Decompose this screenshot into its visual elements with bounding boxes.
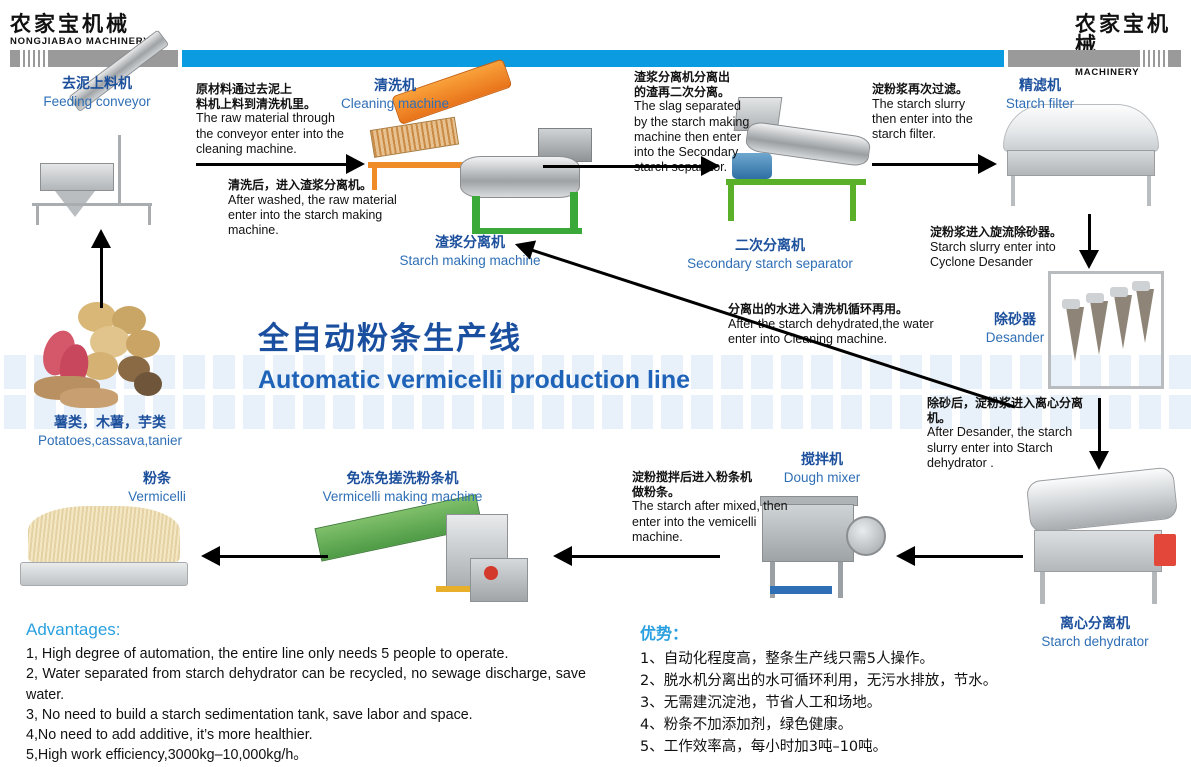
label-secondary-separator: 二次分离机 Secondary starch separator <box>660 238 880 271</box>
label-raw-material: 薯类，木薯，芋类 Potatoes,cassava,tanier <box>10 415 210 448</box>
brand-name-cn: 农家宝机械 <box>10 14 150 35</box>
label-desander-en: Desander <box>960 330 1070 346</box>
note-starch-to-secondary-cn1: 渣浆分离机分离出 <box>634 70 754 85</box>
label-cleaning-machine: 清洗机 Cleaning machine <box>330 78 460 111</box>
note-mixer-to-vermicelli-en: The starch after mixed, then enter into … <box>632 499 792 545</box>
advantages-en-heading: Advantages: <box>26 620 586 640</box>
note-desander-to-dehydrator-cn: 除砂后，淀粉浆进入离心分离机。 <box>927 396 1105 425</box>
page-title: 全自动粉条生产线 Automatic vermicelli production… <box>258 320 690 396</box>
note-water-recycle-en: After the starch dehydrated,the water en… <box>728 317 953 348</box>
note-starch-to-secondary: 渣浆分离机分离出 的渣再二次分离。 The slag separated by … <box>634 70 754 176</box>
note-conveyor-to-cleaning-en: The raw material through the conveyor en… <box>196 111 346 157</box>
arrow-starch-to-secondary <box>543 165 703 168</box>
note-conveyor-to-cleaning-cn2: 料机上料到清洗机里。 <box>196 97 346 112</box>
raw-material-image <box>30 300 190 415</box>
page-title-en: Automatic vermicelli production line <box>258 365 690 396</box>
label-secondary-separator-cn: 二次分离机 <box>660 238 880 255</box>
label-starch-filter-cn: 精滤机 <box>975 78 1105 95</box>
arrow-mixer-to-vermicelli-machine <box>570 555 720 558</box>
advantages-en-item-2: 2, Water separated from starch dehydrato… <box>26 664 586 705</box>
advantages-cn-item-3: 3、无需建沉淀池，节省人工和场地。 <box>640 692 1060 714</box>
label-desander-cn: 除砂器 <box>960 312 1070 329</box>
note-secondary-to-filter-cn: 淀粉浆再次过滤。 <box>872 82 992 97</box>
arrow-dehydrator-to-mixer <box>913 555 1023 558</box>
header-stripes-right <box>1140 50 1168 67</box>
arrow-raw-to-conveyor <box>100 246 103 308</box>
note-desander-to-dehydrator-en: After Desander, the starch slurry enter … <box>927 425 1105 471</box>
label-vermicelli-making-machine-cn: 免冻免搓洗粉条机 <box>280 471 525 488</box>
note-cleaning-to-starch: 清洗后，进入渣浆分离机。 After washed, the raw mater… <box>228 178 418 238</box>
arrow-desander-to-dehydrator <box>1098 398 1101 453</box>
advantages-english: Advantages: 1, High degree of automation… <box>26 620 586 766</box>
arrow-filter-to-desander <box>1088 214 1091 252</box>
note-cleaning-to-starch-en: After washed, the raw material enter int… <box>228 193 418 239</box>
note-mixer-to-vermicelli-cn1: 淀粉搅拌后进入粉条机 <box>632 470 792 485</box>
note-conveyor-to-cleaning-cn1: 原材料通过去泥上 <box>196 82 346 97</box>
starch-making-machine-image <box>450 120 610 235</box>
label-vermicelli-cn: 粉条 <box>102 471 212 488</box>
note-starch-to-secondary-cn2: 的渣再二次分离。 <box>634 85 754 100</box>
advantages-cn-item-5: 5、工作效率高，每小时加3吨–10吨。 <box>640 736 1060 758</box>
label-starch-filter: 精滤机 Starch filter <box>975 78 1105 111</box>
arrow-machine-to-product <box>218 555 328 558</box>
advantages-cn-item-2: 2、脱水机分离出的水可循环利用，无污水排放，节水。 <box>640 670 1060 692</box>
advantages-en-item-5: 5,High work efficiency,3000kg–10,000kg/h… <box>26 745 586 765</box>
note-mixer-to-vermicelli-cn2: 做粉条。 <box>632 485 792 500</box>
label-cleaning-machine-cn: 清洗机 <box>330 78 460 95</box>
note-cleaning-to-starch-cn: 清洗后，进入渣浆分离机。 <box>228 178 418 193</box>
label-vermicelli-en: Vermicelli <box>102 489 212 505</box>
note-desander-to-dehydrator: 除砂后，淀粉浆进入离心分离机。 After Desander, the star… <box>927 396 1105 471</box>
arrow-conveyor-to-cleaning <box>196 163 348 166</box>
note-water-recycle-cn: 分离出的水进入清洗机循环再用。 <box>728 302 953 317</box>
note-secondary-to-filter: 淀粉浆再次过滤。 The starch slurry then enter in… <box>872 82 992 142</box>
label-dough-mixer-cn: 搅拌机 <box>752 452 892 469</box>
label-vermicelli-making-machine: 免冻免搓洗粉条机 Vermicelli making machine <box>280 471 525 504</box>
advantages-en-item-1: 1, High degree of automation, the entire… <box>26 644 586 664</box>
label-feeding-conveyor-en: Feeding conveyor <box>12 94 182 110</box>
label-starch-making-machine-en: Starch making machine <box>380 253 560 269</box>
note-filter-to-desander-cn: 淀粉浆进入旋流除砂器。 <box>930 225 1100 240</box>
advantages-cn-item-4: 4、粉条不加添加剂，绿色健康。 <box>640 714 1060 736</box>
starch-dehydrator-image <box>1022 468 1182 608</box>
header-bar-center-blue <box>182 50 1004 67</box>
advantages-en-item-3: 3, No need to build a starch sedimentati… <box>26 705 586 725</box>
note-filter-to-desander: 淀粉浆进入旋流除砂器。 Starch slurry enter into Cyc… <box>930 225 1100 270</box>
vermicelli-making-machine-image <box>318 500 548 615</box>
note-secondary-to-filter-en: The starch slurry then enter into the st… <box>872 97 992 143</box>
vermicelli-product-image <box>20 502 190 597</box>
label-raw-material-en: Potatoes,cassava,tanier <box>10 433 210 449</box>
label-secondary-separator-en: Secondary starch separator <box>660 256 880 272</box>
advantages-cn-item-1: 1、自动化程度高，整条生产线只需5人操作。 <box>640 648 1060 670</box>
brand-logo-left: 农家宝机械 NONGJIABAO MACHINERY <box>10 14 150 47</box>
note-mixer-to-vermicelli: 淀粉搅拌后进入粉条机 做粉条。 The starch after mixed, … <box>632 470 792 545</box>
label-feeding-conveyor-cn: 去泥上料机 <box>12 76 182 93</box>
label-desander: 除砂器 Desander <box>960 312 1070 345</box>
brand-logo-right: 农家宝机械 NONGJIABAO MACHINERY <box>1075 14 1191 77</box>
arrow-secondary-to-filter <box>872 163 980 166</box>
advantages-en-item-4: 4,No need to add additive, it’s more hea… <box>26 725 586 745</box>
label-cleaning-machine-en: Cleaning machine <box>330 96 460 112</box>
label-raw-material-cn: 薯类，木薯，芋类 <box>10 415 210 432</box>
label-vermicelli: 粉条 Vermicelli <box>102 471 212 504</box>
note-conveyor-to-cleaning: 原材料通过去泥上 料机上料到清洗机里。 The raw material thr… <box>196 82 346 157</box>
feeding-conveyor-image <box>22 95 182 230</box>
advantages-cn-heading: 优势： <box>640 620 1060 644</box>
starch-filter-image <box>995 98 1170 213</box>
label-vermicelli-making-machine-en: Vermicelli making machine <box>280 489 525 505</box>
production-line-infographic: 农家宝机械 NONGJIABAO MACHINERY 农家宝机械 NONGJIA… <box>0 0 1191 767</box>
label-starch-filter-en: Starch filter <box>975 96 1105 112</box>
advantages-chinese: 优势： 1、自动化程度高，整条生产线只需5人操作。 2、脱水机分离出的水可循环利… <box>640 620 1060 758</box>
brand-name-en: NONGJIABAO MACHINERY <box>10 37 150 47</box>
page-title-cn: 全自动粉条生产线 <box>258 320 690 359</box>
header-stripes-left <box>20 50 48 67</box>
note-filter-to-desander-en: Starch slurry enter into Cyclone Desande… <box>930 240 1100 271</box>
label-feeding-conveyor: 去泥上料机 Feeding conveyor <box>12 76 182 109</box>
